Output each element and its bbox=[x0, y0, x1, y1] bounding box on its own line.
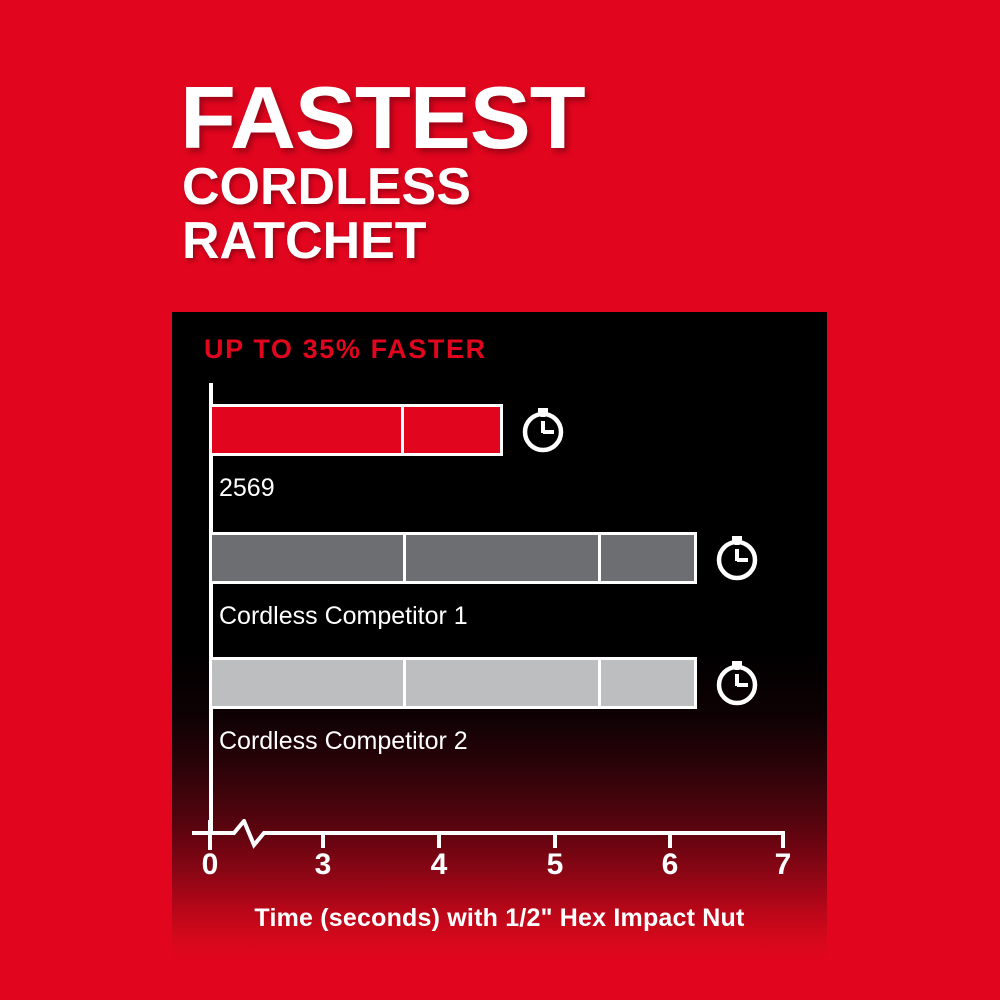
x-tick-7 bbox=[781, 831, 785, 848]
headline-line-1: FASTEST bbox=[180, 78, 858, 159]
bar-label-competitor-1: Cordless Competitor 1 bbox=[219, 602, 468, 631]
bar-track-competitor-2 bbox=[209, 657, 697, 709]
bar-segment bbox=[212, 407, 404, 453]
bar-row-competitor-1 bbox=[209, 532, 763, 584]
bar-label-competitor-2: Cordless Competitor 2 bbox=[219, 727, 468, 756]
stopwatch-icon bbox=[711, 655, 763, 712]
plot-area: 2569 Cordless Competitor 1 bbox=[172, 312, 827, 960]
stopwatch-icon bbox=[517, 402, 569, 459]
x-tick-label-4: 4 bbox=[431, 848, 448, 882]
x-tick-label-6: 6 bbox=[662, 848, 679, 882]
x-axis-caption: Time (seconds) with 1/2" Hex Impact Nut bbox=[172, 904, 827, 933]
bar-row-competitor-2 bbox=[209, 657, 763, 709]
bar-segment bbox=[406, 660, 602, 706]
x-tick-4 bbox=[437, 831, 441, 848]
stopwatch-icon bbox=[711, 530, 763, 587]
headline-line-2: CORDLESS bbox=[182, 161, 832, 213]
x-tick-6 bbox=[668, 831, 672, 848]
bar-track-competitor-1 bbox=[209, 532, 697, 584]
bar-segment bbox=[212, 660, 406, 706]
bar-segment bbox=[404, 407, 500, 453]
x-tick-label-7: 7 bbox=[775, 848, 792, 882]
x-tick-3 bbox=[321, 831, 325, 848]
bar-track-2569 bbox=[209, 404, 503, 456]
bar-segment bbox=[406, 535, 602, 581]
x-tick-label-3: 3 bbox=[315, 848, 332, 882]
x-tick-label-0: 0 bbox=[202, 848, 219, 882]
headline-block: FASTEST CORDLESS RATCHET bbox=[172, 78, 832, 267]
bar-row-2569 bbox=[209, 404, 569, 456]
x-tick-5 bbox=[553, 831, 557, 848]
chart-panel: UP TO 35% FASTER 2569 bbox=[172, 312, 827, 960]
bar-label-2569: 2569 bbox=[219, 474, 275, 503]
bar-segment bbox=[601, 660, 694, 706]
bar-segment bbox=[601, 535, 694, 581]
bar-segment bbox=[212, 535, 406, 581]
x-tick-label-5: 5 bbox=[547, 848, 564, 882]
x-axis-line bbox=[182, 819, 802, 849]
x-tick-0 bbox=[208, 820, 212, 850]
headline-line-3: RATCHET bbox=[182, 215, 832, 267]
